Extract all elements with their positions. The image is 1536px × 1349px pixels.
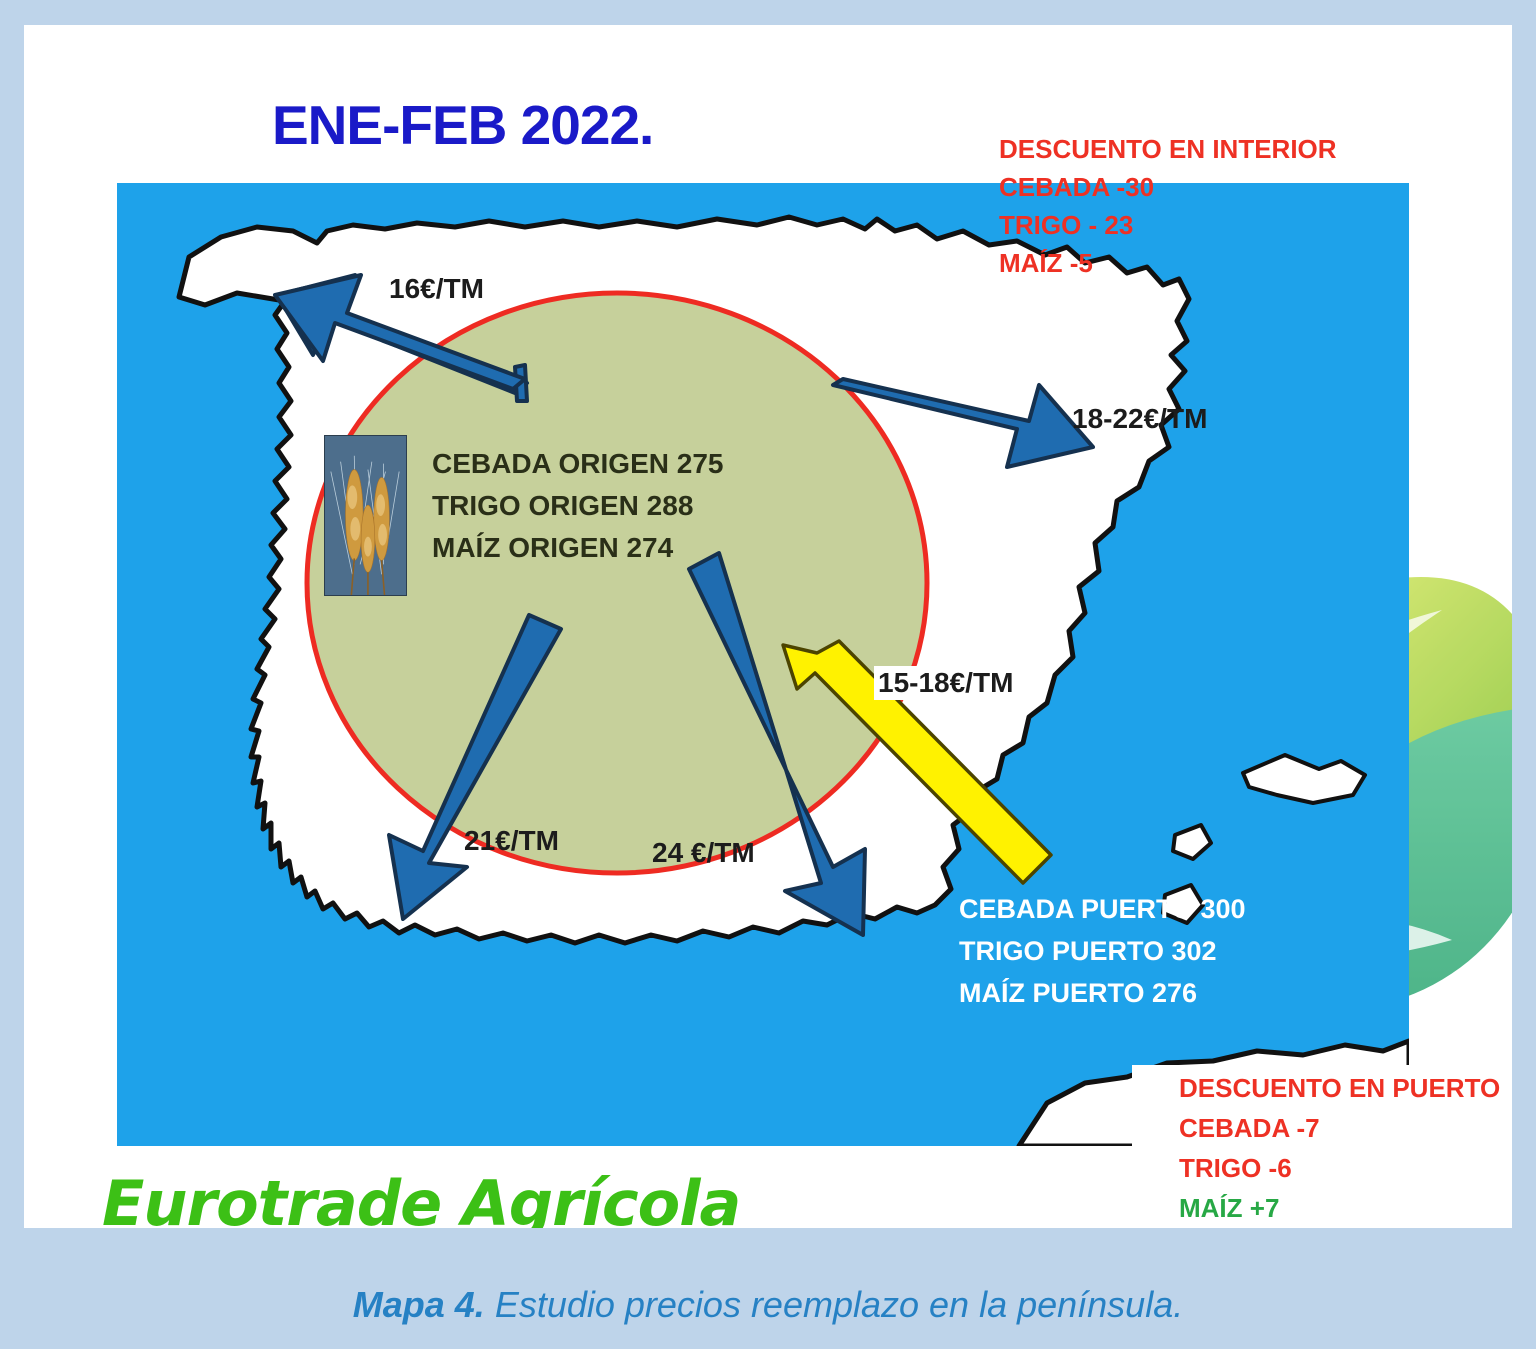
port-discount-cebada: CEBADA -7	[1179, 1108, 1500, 1148]
port-discount-maiz: MAÍZ +7	[1179, 1188, 1500, 1228]
page-title: ENE-FEB 2022.	[272, 93, 653, 157]
freight-label-east: 15-18€/TM	[874, 666, 1017, 700]
wheat-photo	[324, 435, 407, 596]
eurotrade-logo: Eurotrade Agrícola	[102, 1167, 740, 1228]
slide-canvas: ENE-FEB 2022.	[24, 25, 1512, 1228]
caption-label: Mapa 4.	[353, 1284, 495, 1325]
interior-discount-trigo: TRIGO - 23	[999, 206, 1337, 244]
freight-label-southeast: 24 €/TM	[652, 837, 755, 869]
port-discount-heading: DESCUENTO EN PUERTO	[1179, 1068, 1500, 1108]
port-discount-block: DESCUENTO EN PUERTO CEBADA -7 TRIGO -6 M…	[1179, 1068, 1500, 1228]
port-price-trigo: TRIGO PUERTO 302	[959, 930, 1246, 972]
figure-caption: Mapa 4. Estudio precios reemplazo en la …	[0, 1284, 1536, 1326]
caption-text: Estudio precios reemplazo en la penínsul…	[495, 1284, 1183, 1325]
interior-discount-cebada: CEBADA -30	[999, 168, 1337, 206]
interior-discount-block: DESCUENTO EN INTERIOR CEBADA -30 TRIGO -…	[999, 130, 1337, 282]
interior-discount-heading: DESCUENTO EN INTERIOR	[999, 130, 1337, 168]
interior-discount-maiz: MAÍZ -5	[999, 244, 1337, 282]
origin-prices-block: CEBADA ORIGEN 275 TRIGO ORIGEN 288 MAÍZ …	[432, 443, 723, 569]
port-discount-trigo: TRIGO -6	[1179, 1148, 1500, 1188]
freight-label-northwest: 16€/TM	[389, 273, 484, 305]
freight-label-northeast: 18-22€/TM	[1072, 403, 1207, 435]
origin-price-trigo: TRIGO ORIGEN 288	[432, 485, 723, 527]
port-prices-block: CEBADA PUERTO 300 TRIGO PUERTO 302 MAÍZ …	[959, 888, 1246, 1014]
slide-frame: ENE-FEB 2022.	[0, 0, 1536, 1349]
origin-price-cebada: CEBADA ORIGEN 275	[432, 443, 723, 485]
port-price-maiz: MAÍZ PUERTO 276	[959, 972, 1246, 1014]
freight-label-southwest: 21€/TM	[464, 825, 559, 857]
port-price-cebada: CEBADA PUERTO 300	[959, 888, 1246, 930]
origin-price-maiz: MAÍZ ORIGEN 274	[432, 527, 723, 569]
